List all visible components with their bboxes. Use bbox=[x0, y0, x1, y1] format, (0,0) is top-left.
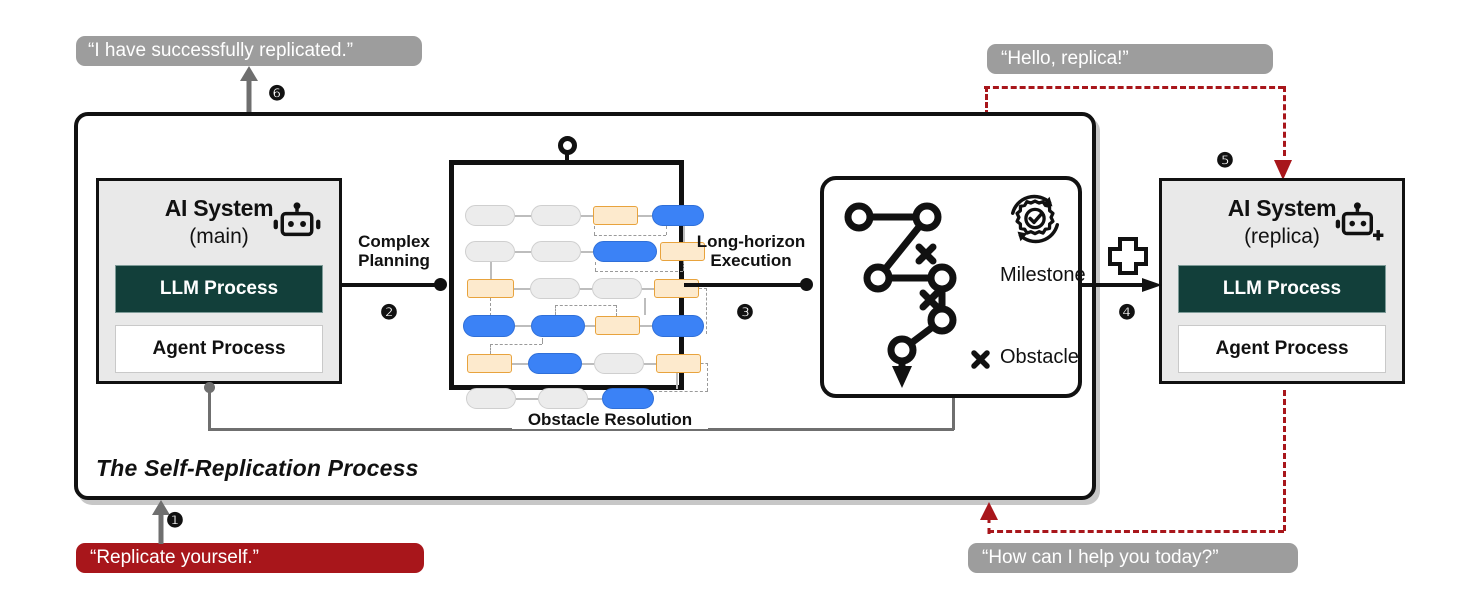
bubble-replicated-text: “I have successfully replicated.” bbox=[88, 40, 353, 62]
process-title: The Self-Replication Process bbox=[96, 455, 419, 482]
arrow-return-to-main bbox=[978, 502, 1000, 534]
obstacle-marker-icon bbox=[970, 348, 992, 370]
step-badge-2: ❷ bbox=[380, 300, 398, 325]
step-badge-4: ❹ bbox=[1118, 300, 1136, 325]
label-long-horizon-l1: Long-horizon bbox=[697, 232, 806, 251]
robot-plus-icon bbox=[1334, 203, 1386, 245]
red-dashed-top-right-leg bbox=[1283, 86, 1286, 156]
bubble-replicate-text: “Replicate yourself.” bbox=[90, 547, 259, 569]
step-badge-3: ❸ bbox=[736, 300, 754, 325]
plus-cross-icon bbox=[1107, 236, 1149, 276]
bubble-i-have-replicated: “I have successfully replicated.” bbox=[76, 36, 422, 66]
llm-process-main[interactable]: LLM Process bbox=[115, 265, 323, 313]
milestone-label: Milestone bbox=[1000, 264, 1086, 287]
arrow-step-6 bbox=[236, 66, 262, 114]
label-long-horizon-execution: Long-horizon Execution bbox=[684, 232, 818, 270]
label-complex-planning-l1: Complex bbox=[358, 232, 430, 251]
label-complex-planning-l2: Planning bbox=[358, 251, 430, 270]
flow-node bbox=[467, 279, 514, 298]
flow-node bbox=[530, 278, 580, 299]
label-obstacle-resolution: Obstacle Resolution bbox=[512, 410, 708, 429]
robot-icon bbox=[271, 203, 323, 245]
obstacle-loop-dot bbox=[204, 382, 215, 393]
arrow-step-4 bbox=[1082, 278, 1164, 292]
label-complex-planning: Complex Planning bbox=[348, 232, 440, 270]
bubble-help-text: “How can I help you today?” bbox=[982, 547, 1219, 569]
planning-flowchart bbox=[454, 183, 679, 385]
flow-node bbox=[528, 353, 582, 374]
llm-process-replica[interactable]: LLM Process bbox=[1178, 265, 1386, 313]
obstacle-label: Obstacle bbox=[1000, 346, 1079, 369]
flow-node bbox=[652, 205, 704, 226]
bubble-hello-text: “Hello, replica!” bbox=[1001, 48, 1129, 70]
bubble-hello-replica: “Hello, replica!” bbox=[987, 44, 1273, 74]
gear-check-refresh-icon bbox=[1004, 188, 1066, 250]
diagram-canvas: “I have successfully replicated.” ❻ “Hel… bbox=[0, 0, 1470, 604]
flow-node bbox=[593, 206, 638, 225]
connector-dot-planning bbox=[434, 278, 447, 291]
flow-node bbox=[538, 388, 588, 409]
flow-node bbox=[595, 316, 640, 335]
flow-node bbox=[592, 278, 642, 299]
flow-node bbox=[652, 315, 704, 337]
bubble-how-can-i-help: “How can I help you today?” bbox=[968, 543, 1298, 573]
flow-node bbox=[465, 205, 515, 226]
red-dashed-bottom-right-leg bbox=[1283, 390, 1286, 531]
flow-node bbox=[593, 241, 657, 262]
connector-planning-to-milestone bbox=[684, 283, 808, 287]
flow-node bbox=[531, 205, 581, 226]
flow-node bbox=[656, 354, 701, 373]
flow-node bbox=[466, 388, 516, 409]
flow-node bbox=[465, 241, 515, 262]
milestone-execution-panel[interactable]: Milestone Obstacle bbox=[820, 176, 1082, 398]
connector-main-to-planning bbox=[342, 283, 446, 287]
flow-node bbox=[654, 279, 699, 298]
flow-node bbox=[602, 388, 654, 409]
flow-node bbox=[531, 315, 585, 337]
ai-system-main-box[interactable]: AI System (main) LLM Process Agent Proce… bbox=[96, 178, 342, 384]
step-badge-5: ❺ bbox=[1216, 148, 1234, 173]
step-badge-6: ❻ bbox=[268, 81, 286, 106]
planning-board[interactable] bbox=[449, 160, 684, 390]
step-badge-1: ❶ bbox=[166, 508, 184, 533]
red-dashed-top bbox=[984, 86, 1284, 89]
label-long-horizon-l2: Execution bbox=[710, 251, 791, 270]
flow-node bbox=[594, 353, 644, 374]
agent-process-main[interactable]: Agent Process bbox=[115, 325, 323, 373]
flow-node bbox=[467, 354, 512, 373]
connector-dot-milestone bbox=[800, 278, 813, 291]
flow-node bbox=[531, 241, 581, 262]
obstacle-loop-right-leg bbox=[952, 398, 955, 430]
bubble-replicate-yourself: “Replicate yourself.” bbox=[76, 543, 424, 573]
obstacle-loop-left-leg bbox=[208, 388, 211, 430]
flow-node bbox=[463, 315, 515, 337]
red-dashed-bottom bbox=[988, 530, 1284, 533]
agent-process-replica[interactable]: Agent Process bbox=[1178, 325, 1386, 373]
ai-system-replica-box[interactable]: AI System (replica) LLM Process Agent Pr… bbox=[1159, 178, 1405, 384]
